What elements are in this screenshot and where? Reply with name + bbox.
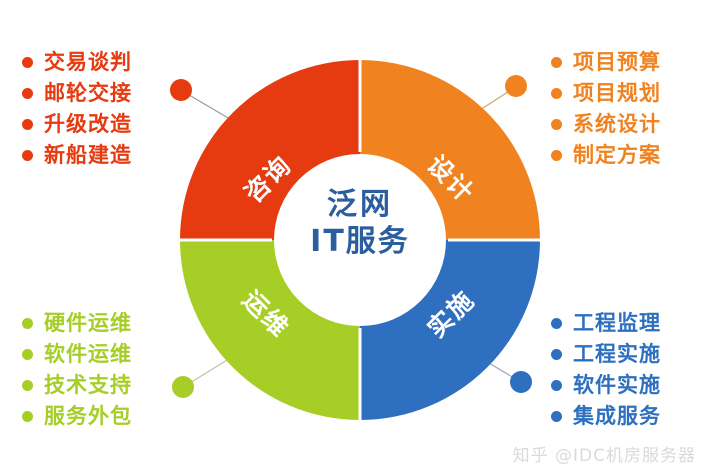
list-item[interactable]: 服务外包 <box>22 402 132 430</box>
donut-label-implement: 实施 <box>418 281 482 345</box>
bullet-icon <box>22 318 33 329</box>
bullet-icon <box>22 88 33 99</box>
list-item[interactable]: 软件运维 <box>22 340 132 368</box>
list-item-label: 制定方案 <box>573 145 661 166</box>
list-item[interactable]: 升级改造 <box>22 110 132 138</box>
donut-label-design: 设计 <box>420 146 484 210</box>
list-item[interactable]: 工程监理 <box>551 309 661 337</box>
bullet-icon <box>551 411 562 422</box>
list-operations: 硬件运维 软件运维 技术支持 服务外包 <box>22 309 132 430</box>
bullet-icon <box>22 380 33 391</box>
bullet-icon <box>22 150 33 161</box>
list-item-label: 项目规划 <box>573 83 661 104</box>
list-item-label: 工程实施 <box>573 344 661 365</box>
list-item[interactable]: 集成服务 <box>551 402 661 430</box>
bullet-icon <box>551 57 562 68</box>
list-item-label: 软件实施 <box>573 375 661 396</box>
list-item[interactable]: 工程实施 <box>551 340 661 368</box>
list-item[interactable]: 项目规划 <box>551 79 661 107</box>
watermark: 知乎 @IDC机房服务器 <box>513 441 696 466</box>
list-item[interactable]: 邮轮交接 <box>22 79 132 107</box>
list-item[interactable]: 新船建造 <box>22 141 132 169</box>
list-implement: 工程监理 工程实施 软件实施 集成服务 <box>551 309 661 430</box>
bullet-icon <box>551 150 562 161</box>
list-item-label: 系统设计 <box>573 114 661 135</box>
list-item[interactable]: 技术支持 <box>22 371 132 399</box>
list-item-label: 项目预算 <box>573 52 661 73</box>
bullet-icon <box>551 88 562 99</box>
donut-label-consulting: 咨询 <box>235 146 299 210</box>
bullet-icon <box>22 349 33 360</box>
list-item-label: 服务外包 <box>44 406 132 427</box>
list-item[interactable]: 项目预算 <box>551 48 661 76</box>
donut-chart: 咨询 设计 运维 实施 <box>180 60 540 420</box>
bullet-icon <box>22 57 33 68</box>
bullet-icon <box>22 119 33 130</box>
list-item-label: 工程监理 <box>573 313 661 334</box>
list-item-label: 集成服务 <box>573 406 661 427</box>
list-item-label: 升级改造 <box>44 114 132 135</box>
list-item[interactable]: 硬件运维 <box>22 309 132 337</box>
bullet-icon <box>551 349 562 360</box>
bullet-icon <box>22 411 33 422</box>
list-item[interactable]: 软件实施 <box>551 371 661 399</box>
list-item[interactable]: 制定方案 <box>551 141 661 169</box>
list-item-label: 邮轮交接 <box>44 83 132 104</box>
bullet-icon <box>551 318 562 329</box>
list-item-label: 软件运维 <box>44 344 132 365</box>
list-consulting: 交易谈判 邮轮交接 升级改造 新船建造 <box>22 48 132 169</box>
list-item[interactable]: 系统设计 <box>551 110 661 138</box>
bullet-icon <box>551 380 562 391</box>
list-item[interactable]: 交易谈判 <box>22 48 132 76</box>
list-item-label: 新船建造 <box>44 145 132 166</box>
donut-label-operations: 运维 <box>235 281 299 345</box>
list-item-label: 技术支持 <box>44 375 132 396</box>
bullet-icon <box>551 119 562 130</box>
list-design: 项目预算 项目规划 系统设计 制定方案 <box>551 48 661 169</box>
list-item-label: 硬件运维 <box>44 313 132 334</box>
list-item-label: 交易谈判 <box>44 52 132 73</box>
